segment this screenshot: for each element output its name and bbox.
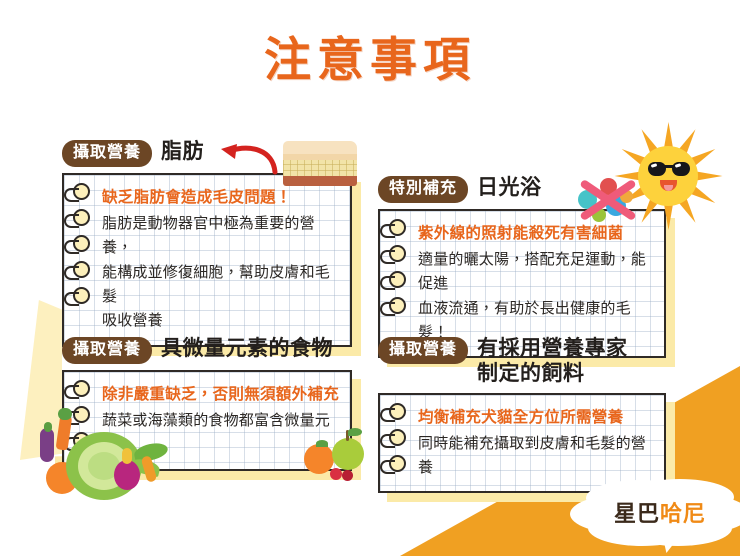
section-fat-note-card: 缺乏脂肪會造成毛皮問題！ 脂肪是動物器官中極為重要的營養， 能構成並修復細胞，幫… bbox=[62, 173, 352, 347]
section-formula-feed-badge: 攝取營養 bbox=[378, 337, 468, 364]
section-formula-feed-header: 攝取營養 有採用營養專家 制定的飼料 bbox=[378, 337, 666, 387]
section-fat-badge: 攝取營養 bbox=[62, 140, 152, 167]
section-sunbath-note-card: 紫外線的照射能殺死有害細菌 適量的曬太陽，搭配充足運動，能促進 血液流通，有助於… bbox=[378, 209, 666, 358]
brand-logo-text: 星巴 哈尼 bbox=[596, 484, 724, 540]
section-sunbath-card-wrap: 紫外線的照射能殺死有害細菌 適量的曬太陽，搭配充足運動，能促進 血液流通，有助於… bbox=[378, 209, 666, 358]
section-trace-elements: 攝取營養 具微量元素的食物 除非嚴重缺乏，否則無須額外補充 蔬菜或海藻類的食物都… bbox=[62, 337, 352, 471]
section-sunbath: 特別補充 日光浴 紫外線的照射能殺死有害細菌 適量的曬太陽，搭配充足運動，能促進… bbox=[378, 176, 666, 358]
spiral-rings-icon bbox=[378, 211, 416, 356]
section-trace-elements-header: 攝取營養 具微量元素的食物 bbox=[62, 337, 352, 364]
section-formula-feed-body: 同時能補充攝取到皮膚和毛髮的營養 bbox=[418, 432, 654, 481]
section-fat-highlight: 缺乏脂肪會造成毛皮問題！ bbox=[102, 186, 340, 210]
section-sunbath-highlight: 紫外線的照射能殺死有害細菌 bbox=[418, 222, 654, 246]
yellow-ribbon-left bbox=[20, 300, 62, 460]
section-fat-header: 攝取營養 脂肪 bbox=[62, 140, 352, 167]
section-fat-card-wrap: 缺乏脂肪會造成毛皮問題！ 脂肪是動物器官中極為重要的營養， 能構成並修復細胞，幫… bbox=[62, 173, 352, 347]
section-fat: 攝取營養 脂肪 缺乏脂肪會造成毛皮問題！ 脂肪是動物器官中極為重要的營養， 能構… bbox=[62, 140, 352, 347]
section-formula-feed-headline: 有採用營養專家 制定的飼料 bbox=[477, 337, 628, 387]
spiral-rings-icon bbox=[378, 395, 416, 492]
section-sunbath-body: 適量的曬太陽，搭配充足運動，能促進 血液流通，有助於長出健康的毛髮！ bbox=[418, 248, 654, 345]
poster-root: 注意事項 攝取營養 脂肪 缺乏脂肪會造成毛皮問題！ 脂肪是動物器官中極為重要的營… bbox=[0, 0, 740, 556]
brand-logo: 星巴 哈尼 bbox=[596, 484, 724, 540]
section-fat-headline: 脂肪 bbox=[161, 140, 204, 165]
page-title: 注意事項 bbox=[0, 34, 740, 86]
section-trace-elements-badge: 攝取營養 bbox=[62, 337, 152, 364]
section-formula-feed: 攝取營養 有採用營養專家 制定的飼料 均衡補充犬貓全方位所需營養 同時能補充攝取… bbox=[378, 337, 666, 493]
section-trace-elements-card-wrap: 除非嚴重缺乏，否則無須額外補充 蔬菜或海藻類的食物都富含微量元素 bbox=[62, 370, 352, 471]
section-trace-elements-note-card: 除非嚴重缺乏，否則無須額外補充 蔬菜或海藻類的食物都富含微量元素 bbox=[62, 370, 352, 471]
section-sunbath-headline: 日光浴 bbox=[477, 176, 542, 201]
section-sunbath-badge: 特別補充 bbox=[378, 176, 468, 203]
brand-logo-text-dark: 星巴 bbox=[614, 496, 660, 528]
section-fat-body: 脂肪是動物器官中極為重要的營養， 能構成並修復細胞，幫助皮膚和毛髮 吸收營養 bbox=[102, 212, 340, 333]
sunglasses-icon bbox=[648, 162, 690, 176]
brand-logo-text-orange: 哈尼 bbox=[660, 496, 706, 528]
section-sunbath-header: 特別補充 日光浴 bbox=[378, 176, 666, 203]
section-trace-elements-headline: 具微量元素的食物 bbox=[161, 337, 333, 362]
section-trace-elements-body: 蔬菜或海藻類的食物都富含微量元素 bbox=[102, 409, 340, 458]
section-formula-feed-note-card: 均衡補充犬貓全方位所需營養 同時能補充攝取到皮膚和毛髮的營養 bbox=[378, 393, 666, 494]
spiral-rings-icon bbox=[62, 372, 100, 469]
section-formula-feed-highlight: 均衡補充犬貓全方位所需營養 bbox=[418, 406, 654, 430]
section-formula-feed-card-wrap: 均衡補充犬貓全方位所需營養 同時能補充攝取到皮膚和毛髮的營養 bbox=[378, 393, 666, 494]
section-trace-elements-highlight: 除非嚴重缺乏，否則無須額外補充 bbox=[102, 383, 340, 407]
spiral-rings-icon bbox=[62, 175, 100, 345]
